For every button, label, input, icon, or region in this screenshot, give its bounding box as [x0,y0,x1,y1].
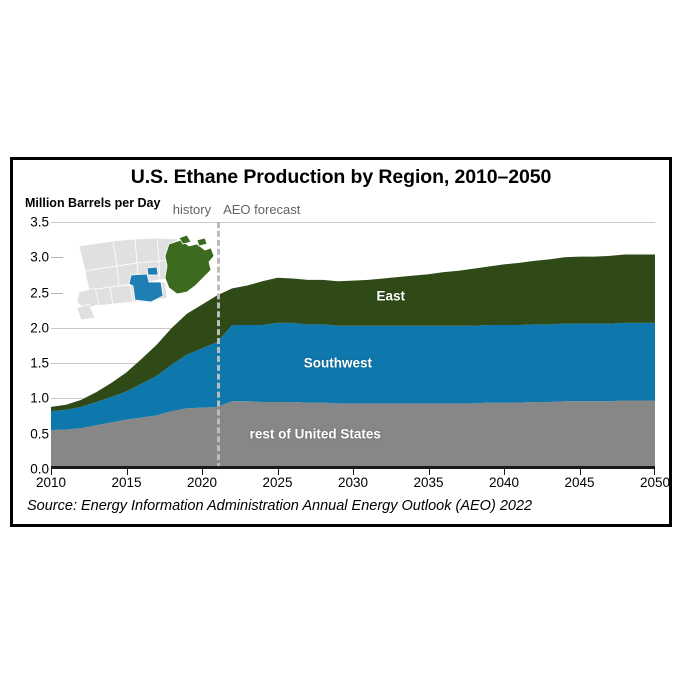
y-tick-label-2.5: 2.5 [15,285,49,300]
x-tick-label-2020: 2020 [187,475,217,490]
x-tick-label-2045: 2045 [564,475,594,490]
forecast-divider-line [217,222,220,469]
series-label-southwest: Southwest [304,356,372,371]
annotation-aeo-forecast: AEO forecast [223,202,300,217]
y-tick-label-0.5: 0.5 [15,426,49,441]
x-tick-label-2030: 2030 [338,475,368,490]
x-tick-label-2035: 2035 [413,475,443,490]
x-tick-label-2050: 2050 [640,475,670,490]
y-tick-label-3.0: 3.0 [15,250,49,265]
plot-area: rest of United StatesSouthwestEast histo… [51,222,655,469]
chart-title: U.S. Ethane Production by Region, 2010–2… [13,166,669,189]
y-tick-label-2.0: 2.0 [15,320,49,335]
chart-figure: U.S. Ethane Production by Region, 2010–2… [10,157,672,527]
series-label-rest-of-united-states: rest of United States [250,426,381,441]
source-note: Source: Energy Information Administratio… [27,498,532,514]
y-tick-label-1.5: 1.5 [15,356,49,371]
y-tick-label-1.0: 1.0 [15,391,49,406]
plot-inner: rest of United StatesSouthwestEast [51,222,655,469]
annotation-history: history [173,202,211,217]
x-tick-label-2010: 2010 [36,475,66,490]
x-tick-label-2040: 2040 [489,475,519,490]
y-axis-title: Million Barrels per Day [25,196,160,210]
series-label-east: East [376,289,405,304]
y-tick-label-3.5: 3.5 [15,215,49,230]
x-tick-label-2015: 2015 [111,475,141,490]
x-tick-label-2025: 2025 [262,475,292,490]
